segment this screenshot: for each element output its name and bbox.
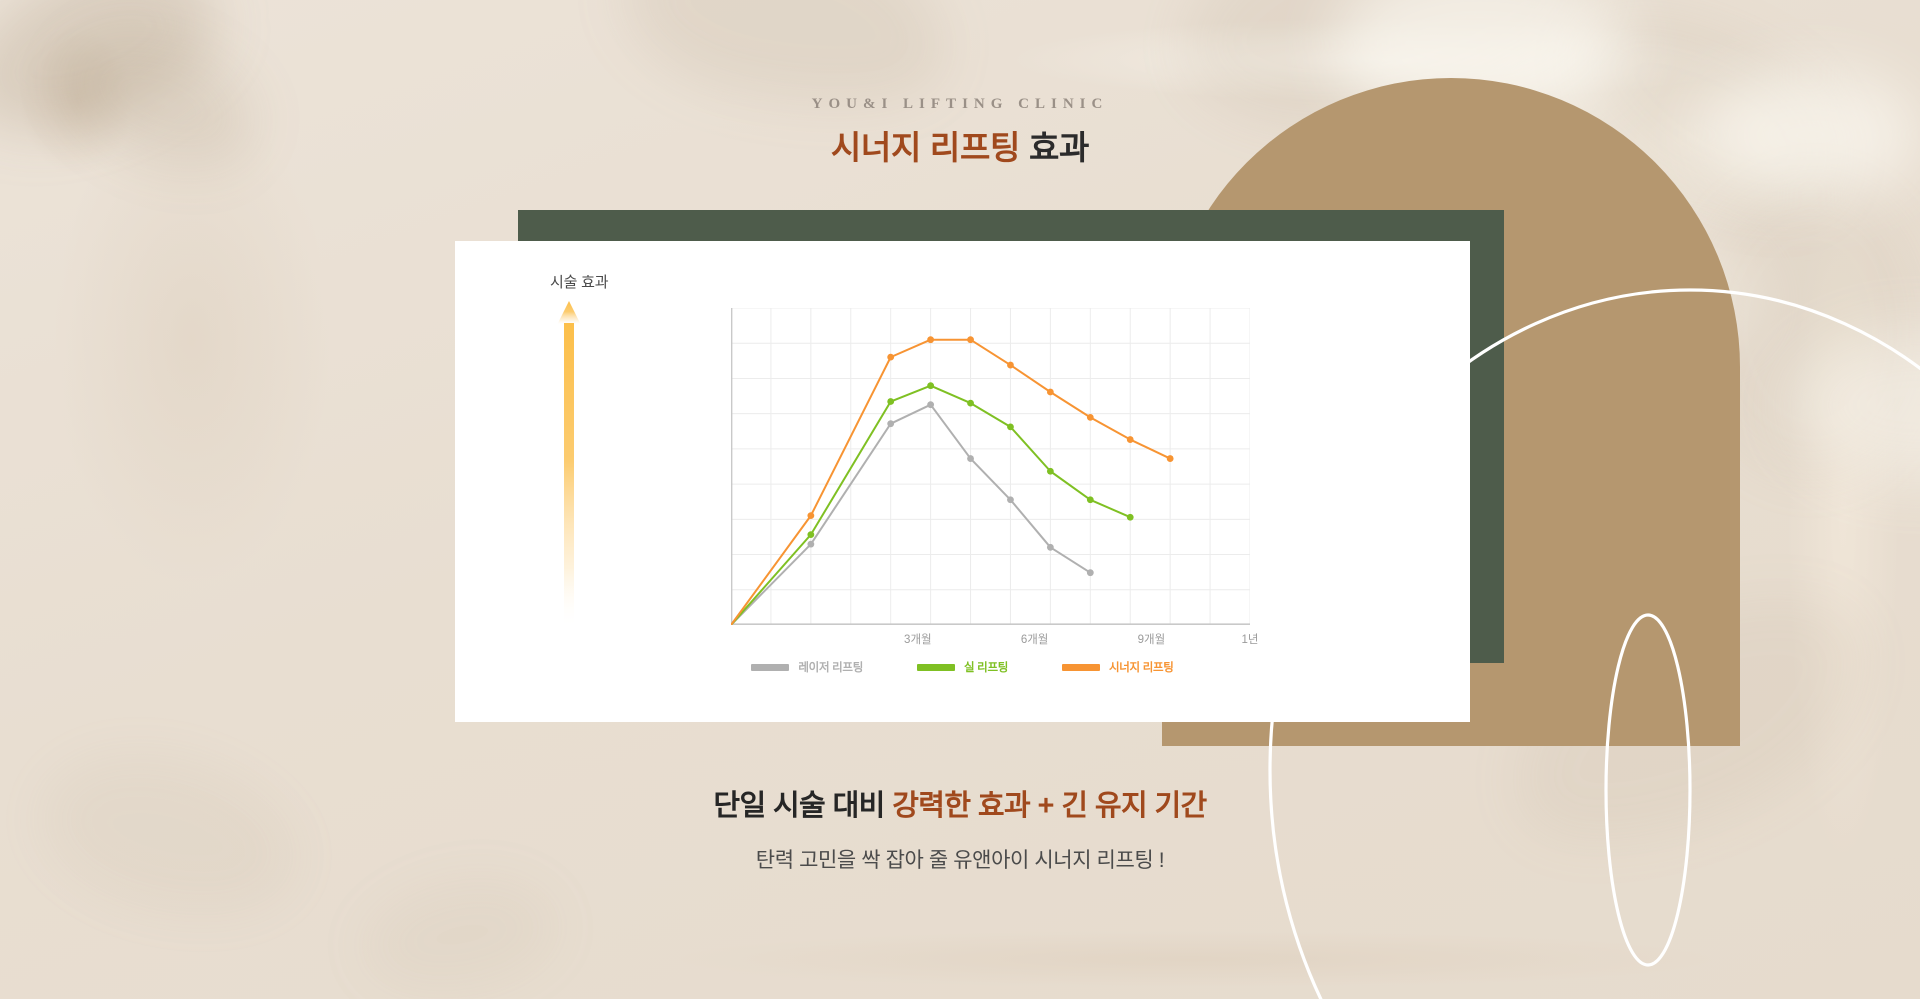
legend-item[interactable]: 레이저 리프팅 xyxy=(751,659,863,675)
footer-text: 단일 시술 대비 강력한 효과 + 긴 유지 기간 탄력 고민을 싹 잡아 줄 … xyxy=(0,782,1920,874)
clinic-eyebrow: YOU&I LIFTING CLINIC xyxy=(0,96,1920,113)
x-tick-label: 9개월 xyxy=(1138,631,1166,647)
x-tick-label: 6개월 xyxy=(1021,631,1049,647)
data-point xyxy=(1167,455,1174,462)
x-axis-labels: 3개월6개월9개월1년 xyxy=(731,631,1250,651)
data-point xyxy=(807,531,814,538)
effect-chart: 시술 효과 3개월6개월9개월1년 레이저 리프팅실 리프팅시너지 리프팅 xyxy=(455,241,1470,722)
data-point xyxy=(887,420,894,427)
footer-headline: 단일 시술 대비 강력한 효과 + 긴 유지 기간 xyxy=(0,782,1920,824)
data-point xyxy=(1007,496,1014,503)
data-point xyxy=(807,541,814,548)
data-point xyxy=(1007,362,1014,369)
footer-headline-accent: 강력한 효과 + 긴 유지 기간 xyxy=(892,790,1206,822)
legend-item[interactable]: 시너지 리프팅 xyxy=(1062,659,1174,675)
data-point xyxy=(807,512,814,519)
footer-headline-plain: 단일 시술 대비 xyxy=(713,790,892,822)
data-point xyxy=(967,455,974,462)
x-tick-label: 1년 xyxy=(1242,631,1259,647)
series-시너지 리프팅 xyxy=(731,336,1174,625)
data-point xyxy=(887,354,894,361)
data-point xyxy=(1007,423,1014,430)
data-point xyxy=(927,336,934,343)
data-point xyxy=(1047,468,1054,475)
page-title: 시너지 리프팅 효과 xyxy=(0,121,1920,169)
data-point xyxy=(927,382,934,389)
legend-label: 시너지 리프팅 xyxy=(1109,659,1174,675)
legend-swatch xyxy=(1062,664,1100,671)
grid-lines xyxy=(731,308,1250,625)
legend-swatch xyxy=(751,664,789,671)
data-point xyxy=(1087,414,1094,421)
data-point xyxy=(887,398,894,405)
chart-legend: 레이저 리프팅실 리프팅시너지 리프팅 xyxy=(455,659,1470,675)
data-point xyxy=(1047,544,1054,551)
legend-swatch xyxy=(917,664,955,671)
legend-item[interactable]: 실 리프팅 xyxy=(917,659,1008,675)
data-point xyxy=(1087,496,1094,503)
footer-subline: 탄력 고민을 싹 잡아 줄 유앤아이 시너지 리프팅 ! xyxy=(0,844,1920,874)
x-tick-label: 3개월 xyxy=(904,631,932,647)
legend-label: 실 리프팅 xyxy=(964,659,1008,675)
legend-label: 레이저 리프팅 xyxy=(798,659,863,675)
plot-area xyxy=(731,308,1250,625)
page-title-tail: 효과 xyxy=(1020,129,1089,166)
data-point xyxy=(1047,389,1054,396)
data-point xyxy=(1087,569,1094,576)
page-title-accent: 시너지 리프팅 xyxy=(831,129,1020,166)
data-point xyxy=(967,400,974,407)
data-point xyxy=(967,336,974,343)
data-point xyxy=(927,401,934,408)
series-실 리프팅 xyxy=(731,382,1134,625)
y-axis-label: 시술 효과 xyxy=(550,271,608,292)
data-point xyxy=(1127,436,1134,443)
gold-arrow-icon xyxy=(555,299,583,629)
data-point xyxy=(1127,514,1134,521)
page-header: YOU&I LIFTING CLINIC 시너지 리프팅 효과 xyxy=(0,96,1920,169)
series-레이저 리프팅 xyxy=(731,401,1094,625)
